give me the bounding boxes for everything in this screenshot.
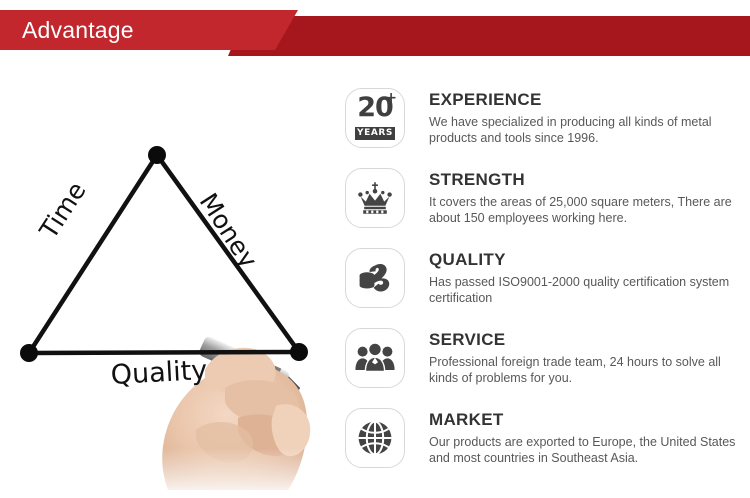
feature-row-quality: QUALITY Has passed ISO9001-2000 quality … bbox=[345, 248, 750, 328]
feature-title: QUALITY bbox=[429, 250, 750, 270]
feature-row-strength: STRENGTH It covers the areas of 25,000 s… bbox=[345, 168, 750, 248]
advantage-feature-list: 20 + YEARS EXPERIENCE We have specialize… bbox=[345, 88, 750, 488]
page-header-banner: Advantage bbox=[0, 0, 750, 70]
feature-title: EXPERIENCE bbox=[429, 90, 750, 110]
feature-row-experience: 20 + YEARS EXPERIENCE We have specialize… bbox=[345, 88, 750, 168]
triangle-vertices bbox=[20, 146, 308, 362]
triangle-illustration: Time Money Quality bbox=[0, 70, 340, 498]
page-title: Advantage bbox=[22, 10, 134, 50]
feature-description: Professional foreign trade team, 24 hour… bbox=[429, 354, 750, 386]
feature-title: STRENGTH bbox=[429, 170, 750, 190]
feature-description: It covers the areas of 25,000 square met… bbox=[429, 194, 750, 226]
people-group-icon bbox=[345, 328, 405, 388]
triangle-diagram bbox=[0, 70, 340, 498]
feature-row-service: SERVICE Professional foreign trade team,… bbox=[345, 328, 750, 408]
years-plus-sign: + bbox=[385, 91, 397, 105]
feature-description: Has passed ISO9001-2000 quality certific… bbox=[429, 274, 750, 306]
20-years-badge-icon: 20 + YEARS bbox=[345, 88, 405, 148]
feature-title: SERVICE bbox=[429, 330, 750, 350]
feature-title: MARKET bbox=[429, 410, 750, 430]
triangle-label-quality: Quality bbox=[110, 355, 208, 391]
years-word: YEARS bbox=[355, 127, 395, 140]
feature-description: We have specialized in producing all kin… bbox=[429, 114, 750, 146]
feature-description: Our products are exported to Europe, the… bbox=[429, 434, 750, 466]
vertex-bottom-right bbox=[290, 343, 308, 361]
globe-icon bbox=[345, 408, 405, 468]
crown-icon bbox=[345, 168, 405, 228]
thumbs-up-icon bbox=[345, 248, 405, 308]
feature-row-market: MARKET Our products are exported to Euro… bbox=[345, 408, 750, 488]
vertex-bottom-left bbox=[20, 344, 38, 362]
vertex-apex bbox=[148, 146, 166, 164]
